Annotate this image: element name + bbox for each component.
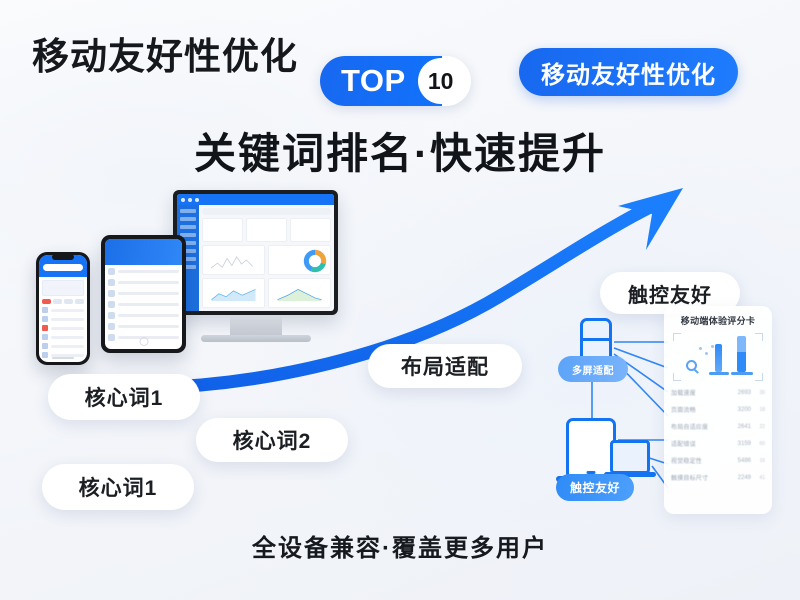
phone-mockup	[36, 252, 90, 365]
phone-notch	[52, 254, 74, 260]
page-title: 移动友好性优化	[32, 26, 298, 80]
monitor-screen	[177, 194, 334, 311]
score-row: 加载速度 2693 30	[671, 388, 765, 397]
phone-home-indicator	[52, 357, 74, 359]
score-card-title: 移动端体验评分卡	[671, 314, 765, 327]
dashboard-stat-cards	[202, 218, 331, 242]
dashboard-main	[199, 205, 334, 311]
top-badge-word: TOP	[340, 63, 406, 99]
magnifier-icon	[686, 360, 697, 371]
mobile-experience-diagram: 多屏适配 触控友好 移动端体验评分卡 加载速度 2693 30	[548, 306, 772, 514]
tablet-screen	[105, 239, 182, 349]
score-row: 视觉稳定性 5486 16	[671, 456, 765, 465]
score-card-rows: 加载速度 2693 30 页面流畅 3200 18 布局自适应度 2641 22…	[671, 388, 765, 482]
diagram-screen-adapt-pill: 多屏适配	[558, 356, 628, 382]
tablet-mockup	[101, 235, 186, 353]
monitor-body	[173, 190, 338, 315]
diagram-tablet-icon	[566, 418, 616, 480]
phone-tab-strip	[39, 299, 87, 307]
score-row: 触摸目标尺寸 2249 41	[671, 473, 765, 482]
tablet-home-button	[139, 337, 148, 346]
dashboard-topbar	[177, 194, 334, 205]
line-chart-panel	[202, 245, 265, 275]
tablet-content-list	[105, 265, 182, 348]
area-chart-panel-a	[202, 278, 265, 308]
dashboard-search-bar	[202, 208, 331, 215]
page-subtitle: 关键词排名·快速提升	[0, 120, 800, 181]
keyword-pill-2[interactable]: 核心词2	[196, 418, 348, 462]
top-badge-number: 10	[418, 58, 464, 104]
score-row: 页面流畅 3200 18	[671, 405, 765, 414]
monitor-stand	[230, 315, 282, 337]
desktop-monitor-mockup	[173, 190, 338, 350]
mobile-score-card: 移动端体验评分卡 加载速度 2693 30 页面流畅 3200 18	[664, 306, 772, 514]
donut-chart-panel	[268, 245, 331, 275]
phone-search-input	[43, 264, 83, 271]
score-row: 布局自适应度 2641 22	[671, 422, 765, 431]
diagram-laptop-icon	[610, 440, 650, 474]
monitor-base	[201, 335, 311, 342]
dashboard-charts-row-2	[202, 278, 331, 308]
keyword-pill-1[interactable]: 核心词1	[48, 374, 200, 420]
phone-screen	[39, 255, 87, 362]
area-chart-panel-b	[268, 278, 331, 308]
score-card-bar-chart	[671, 333, 765, 381]
top-rank-badge: TOP 10	[320, 56, 471, 106]
diagram-touch-pill: 触控友好	[556, 474, 634, 501]
device-mockups	[28, 190, 338, 390]
layout-adaptation-pill[interactable]: 布局适配	[368, 344, 522, 388]
phone-hero-banner	[42, 280, 84, 296]
dashboard-charts-row-1	[202, 245, 331, 275]
tablet-header-banner	[105, 239, 182, 265]
footer-tagline: 全设备兼容·覆盖更多用户	[0, 528, 800, 563]
keyword-pill-3[interactable]: 核心词1	[42, 464, 194, 510]
header-tag-pill[interactable]: 移动友好性优化	[519, 48, 738, 96]
score-row: 适配错误 3159 60	[671, 439, 765, 448]
